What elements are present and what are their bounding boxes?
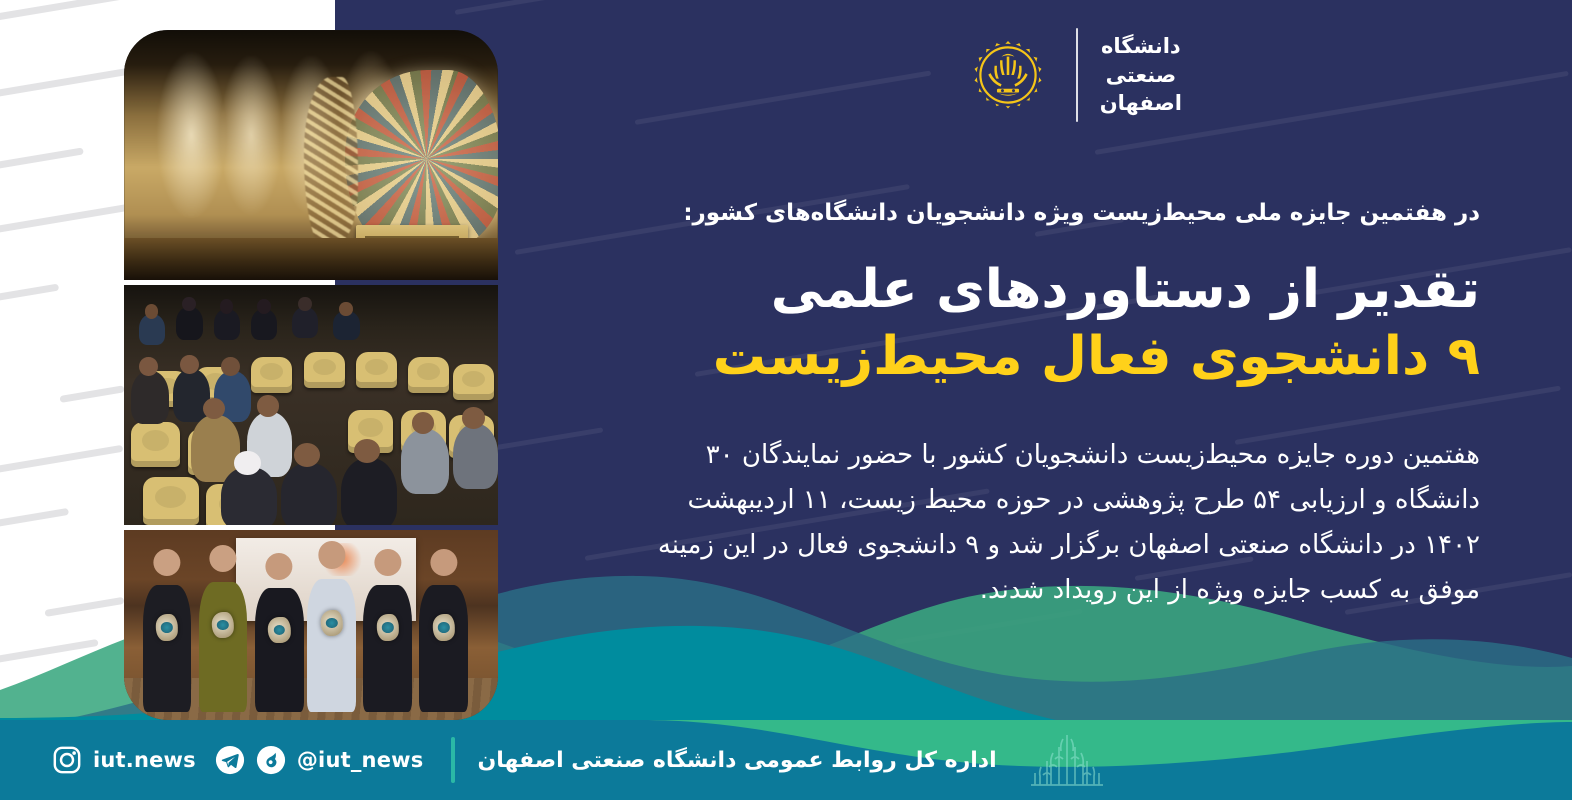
footer-content: iut.news @iut_news اداره کل روابط عمو: [0, 720, 1572, 800]
audience-member: [401, 429, 450, 494]
winner-head: [266, 553, 293, 580]
trophy: [268, 617, 290, 643]
article-headline-line2: ۹ دانشجوی فعال محیط‌زیست: [650, 326, 1480, 387]
telegram-icon[interactable]: [215, 745, 245, 775]
award-winner: [307, 541, 356, 712]
award-winner: [419, 549, 468, 712]
decorative-stripe: [59, 385, 124, 403]
winner-head: [153, 549, 180, 576]
audience-member-head: [257, 395, 279, 417]
winner-head: [318, 541, 345, 568]
bale-icon[interactable]: [256, 745, 286, 775]
winner-body: [255, 588, 304, 712]
seat: [131, 422, 180, 468]
social-links: iut.news @iut_news: [52, 745, 423, 775]
winner-head: [374, 549, 401, 576]
audience-member-head: [339, 302, 352, 316]
seat: [304, 352, 345, 388]
audience-member-head: [145, 304, 158, 318]
trophy: [212, 612, 234, 638]
audience-member-head: [462, 407, 484, 429]
audience-member-head: [298, 297, 311, 311]
photo-content: [124, 285, 498, 525]
decorative-stripe: [0, 0, 296, 25]
audience-member-head: [257, 299, 270, 313]
audience-member-head: [412, 412, 434, 434]
decorative-stripe: [635, 71, 932, 125]
decorative-stripe: [455, 0, 811, 15]
brand-name: دانشگاه صنعتی اصفهان: [1100, 32, 1182, 119]
brand-name-line1: دانشگاه: [1100, 32, 1182, 61]
audience-member-head: [221, 357, 240, 376]
photo-auditorium-audience: [124, 285, 498, 525]
iut-gear-logo-icon: [962, 29, 1054, 121]
audience-member: [176, 307, 202, 341]
minaret-motif-icon: [1023, 731, 1111, 789]
decorative-stripe: [0, 284, 59, 307]
trophy: [156, 614, 178, 640]
audience-member: [281, 463, 337, 525]
photo-content: [124, 530, 498, 720]
table-edge: [124, 238, 498, 281]
photo-award-winners: [124, 530, 498, 720]
university-brand: دانشگاه صنعتی اصفهان: [962, 28, 1182, 122]
article-body: هفتمین دوره جایزه محیط‌زیست دانشجویان کش…: [650, 433, 1480, 612]
audience-member-head: [354, 439, 380, 463]
audience-member: [221, 467, 277, 525]
decorative-stripe: [0, 147, 84, 175]
footer-bar: iut.news @iut_news اداره کل روابط عمو: [0, 720, 1572, 800]
trophy: [320, 610, 342, 636]
trophy: [433, 614, 455, 640]
winner-body: [307, 579, 356, 712]
audience-member-head: [182, 297, 195, 311]
award-winner: [363, 549, 412, 712]
seat: [453, 364, 494, 400]
seat: [251, 357, 292, 393]
brand-name-line3: اصفهان: [1100, 89, 1182, 118]
decorative-stripe: [0, 445, 123, 479]
audience-member: [131, 371, 168, 424]
audience-member-head: [234, 451, 260, 475]
article-text-block: در هفتمین جایزه ملی محیط‌زیست ویژه دانشج…: [650, 196, 1480, 612]
seat: [408, 357, 449, 393]
instagram-handle[interactable]: iut.news: [93, 748, 196, 772]
audience-member: [453, 424, 498, 489]
audience-member-head: [220, 299, 233, 313]
poster-canvas: دانشگاه صنعتی اصفهان: [0, 0, 1572, 800]
photo-stack: [124, 30, 498, 690]
winner-body: [419, 585, 468, 712]
seat: [356, 352, 397, 388]
audience-member-head: [139, 357, 158, 376]
article-kicker: در هفتمین جایزه ملی محیط‌زیست ویژه دانشج…: [650, 196, 1480, 231]
article-headline-line1: تقدیر از دستاوردهای علمی: [650, 259, 1480, 320]
winner-body: [143, 585, 192, 712]
audience-member: [292, 307, 318, 338]
trophy: [376, 614, 398, 640]
organization-name: اداره کل روابط عمومی دانشگاه صنعتی اصفها…: [477, 748, 996, 773]
audience-member-head: [180, 355, 199, 374]
brand-divider: [1076, 28, 1078, 122]
winner-body: [363, 585, 412, 712]
photo-content: [124, 30, 498, 280]
photo-award-trophies: [124, 30, 498, 280]
award-winner: [143, 549, 192, 712]
seat: [143, 477, 199, 525]
messenger-handle[interactable]: @iut_news: [297, 748, 424, 772]
winner-body: [199, 582, 248, 712]
award-winner: [199, 545, 248, 712]
award-winner: [255, 553, 304, 713]
decorative-stripe: [0, 508, 69, 533]
footer-divider: [451, 737, 455, 783]
winner-head: [430, 549, 457, 576]
audience-member: [341, 458, 397, 525]
decorative-stripe: [0, 67, 133, 103]
instagram-icon[interactable]: [52, 745, 82, 775]
brand-name-line2: صنعتی: [1100, 61, 1182, 90]
winner-head: [209, 545, 236, 572]
